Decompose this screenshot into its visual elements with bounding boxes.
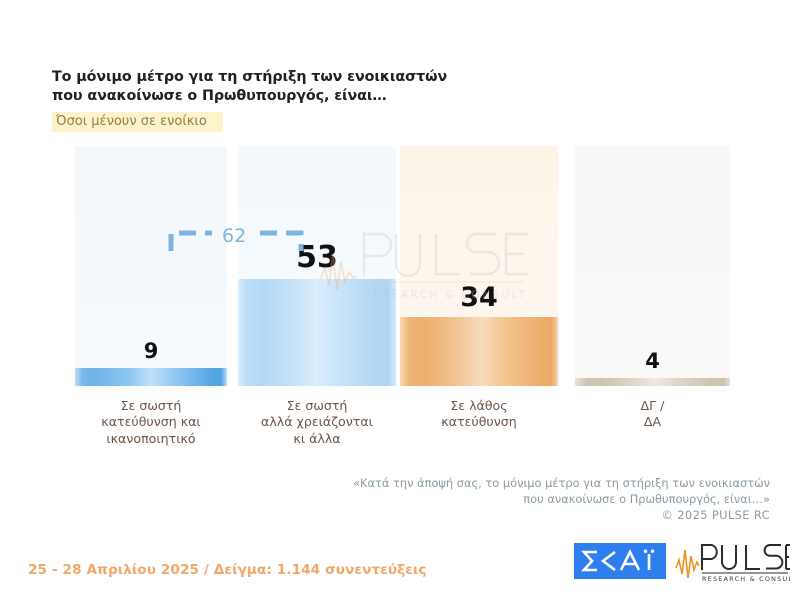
subtitle-highlight-chip: Όσοι μένουν σε ενοίκιο (52, 112, 223, 132)
bar-1[interactable] (75, 368, 227, 386)
bar-2[interactable] (238, 279, 396, 386)
x-axis-label-line: ΔΑ (563, 414, 742, 430)
page-title-line-2: που ανακοίνωσε ο Πρωθυπουργός, είναι… (52, 87, 612, 106)
x-axis-label-4: ΔΓ /ΔΑ (563, 398, 742, 431)
logo-row: RESEARCH & CONSULTING (574, 538, 790, 584)
skai-logo (574, 543, 666, 579)
bar-chart: 953344 (0, 146, 800, 386)
x-axis-label-1: Σε σωστήκατεύθυνση καιικανοποιητικό (63, 398, 239, 447)
bracket-annotation-62-label: 62 (222, 226, 246, 246)
question-footnote: «Κατά την άποψή σας, το μόνιμο μέτρο για… (353, 476, 770, 523)
x-axis-label-line: ΔΓ / (563, 398, 742, 414)
x-axis-label-line: κι άλλα (226, 431, 408, 447)
x-axis-label-line: ικανοποιητικό (63, 431, 239, 447)
pulse-logo-tagline: RESEARCH & CONSULTING (702, 575, 790, 582)
bar-4[interactable] (575, 378, 730, 386)
bar-column-1: 9 (75, 146, 227, 386)
x-axis-label-2: Σε σωστήαλλά χρειάζονταικι άλλα (226, 398, 408, 447)
x-axis-label-line: Σε σωστή (226, 398, 408, 414)
bar-value-label-3: 34 (400, 284, 558, 311)
bar-3[interactable] (400, 317, 558, 386)
x-axis-label-line: Σε σωστή (63, 398, 239, 414)
x-axis-label-3: Σε λάθοςκατεύθυνση (388, 398, 570, 431)
bar-column-2: 53 (238, 146, 396, 386)
chart-title-block: Το μόνιμο μέτρο για τη στήριξη των ενοικ… (52, 68, 612, 132)
pulse-logo: RESEARCH & CONSULTING (674, 540, 790, 582)
bar-column-3: 34 (400, 146, 558, 386)
x-axis-label-line: Σε λάθος (388, 398, 570, 414)
bar-value-label-1: 9 (75, 341, 227, 362)
x-axis-label-line: αλλά χρειάζονται (226, 414, 408, 430)
x-axis-label-line: κατεύθυνση (388, 414, 570, 430)
question-footnote-line-2: που ανακοίνωσε ο Πρωθυπουργός, είναι…» (353, 492, 770, 508)
x-axis-label-line: κατεύθυνση και (63, 414, 239, 430)
copyright-text: © 2025 PULSE RC (353, 507, 770, 523)
x-axis-labels: Σε σωστήκατεύθυνση καιικανοποιητικόΣε σω… (0, 398, 800, 458)
fieldwork-dates-sample: 25 - 28 Απριλίου 2025 / Δείγμα: 1.144 συ… (28, 562, 427, 578)
bar-value-label-4: 4 (575, 351, 730, 372)
question-footnote-line-1: «Κατά την άποψή σας, το μόνιμο μέτρο για… (353, 476, 770, 492)
bar-column-4: 4 (575, 146, 730, 386)
page-title-line-1: Το μόνιμο μέτρο για τη στήριξη των ενοικ… (52, 68, 612, 87)
